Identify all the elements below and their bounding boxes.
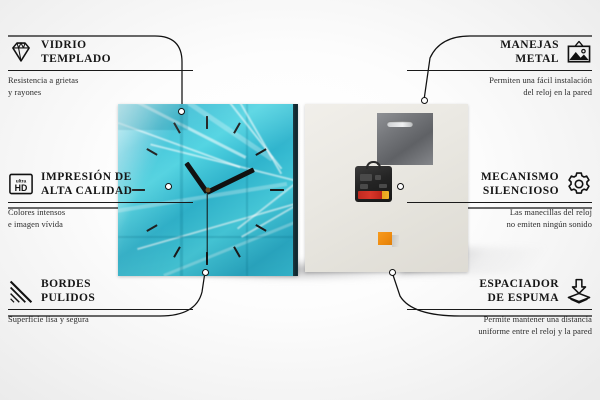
- feature-heading: Bordes Pulidos: [8, 277, 193, 305]
- feature-heading: Espaciador de Espuma: [407, 277, 592, 305]
- feature-divider: [407, 202, 592, 203]
- feature-impresion-alta-calidad: ultra HD Impresión de Alta Calidad Color…: [8, 170, 193, 230]
- feature-mecanismo-silencioso: Mecanismo Silencioso Las manecillas del …: [407, 170, 592, 230]
- feature-espaciador-de-espuma: Espaciador de Espuma Permite mantener un…: [407, 277, 592, 337]
- callout-dot-bordes[interactable]: [202, 269, 209, 276]
- feature-subtitle: Superficie lisa y segura: [8, 314, 193, 325]
- feature-title: Impresión de Alta Calidad: [41, 170, 132, 198]
- picture-frame-icon: [566, 39, 592, 65]
- feature-title: Vidrio Templado: [41, 38, 111, 66]
- hanger-slot: [387, 121, 413, 127]
- feature-vidrio-templado: Vidrio Templado Resistencia a grietas y …: [8, 38, 193, 98]
- callout-dot-vidrio-templado[interactable]: [178, 108, 185, 115]
- feature-subtitle: Las manecillas del reloj no emiten ningú…: [407, 207, 592, 230]
- clock-side-edge: [293, 104, 298, 276]
- battery-compartment: [358, 191, 389, 199]
- feature-divider: [407, 309, 592, 310]
- feature-heading: ultra HD Impresión de Alta Calidad: [8, 170, 193, 198]
- callout-dot-mecanismo[interactable]: [397, 183, 404, 190]
- foam-spacer: [378, 232, 392, 245]
- feature-divider: [8, 309, 193, 310]
- feature-subtitle: Colores intensos e imagen vívida: [8, 207, 193, 230]
- feature-divider: [407, 70, 592, 71]
- ultra-hd-icon: ultra HD: [8, 171, 34, 197]
- feature-title: Bordes Pulidos: [41, 277, 95, 305]
- foam-spacer-icon: [566, 278, 592, 304]
- metal-hanger: [377, 113, 433, 165]
- feature-manejas-metal: Manejas Metal Permiten una fácil instala…: [407, 38, 592, 98]
- gear-icon: [566, 171, 592, 197]
- feature-heading: Mecanismo Silencioso: [407, 170, 592, 198]
- callout-dot-manejas[interactable]: [421, 97, 428, 104]
- feature-divider: [8, 70, 193, 71]
- svg-text:HD: HD: [15, 183, 28, 193]
- feature-title: Mecanismo Silencioso: [481, 170, 559, 198]
- feature-divider: [8, 202, 193, 203]
- polished-edge-icon: [8, 278, 34, 304]
- feature-heading: Manejas Metal: [407, 38, 592, 66]
- feature-title: Manejas Metal: [500, 38, 559, 66]
- feature-subtitle: Permite mantener una distancia uniforme …: [407, 314, 592, 337]
- mechanism-hook: [366, 161, 381, 169]
- foam-spacer-shadow: [392, 235, 399, 247]
- feature-subtitle: Resistencia a grietas y rayones: [8, 75, 193, 98]
- clock-center-hub: [206, 188, 211, 193]
- feature-bordes-pulidos: Bordes Pulidos Superficie lisa y segura: [8, 277, 193, 326]
- diamond-icon: [8, 39, 34, 65]
- feature-title: Espaciador de Espuma: [479, 277, 559, 305]
- callout-dot-espaciador[interactable]: [389, 269, 396, 276]
- infographic-canvas: Vidrio Templado Resistencia a grietas y …: [0, 0, 600, 400]
- quartz-mechanism: [355, 166, 392, 202]
- feature-subtitle: Permiten una fácil instalación del reloj…: [407, 75, 592, 98]
- feature-heading: Vidrio Templado: [8, 38, 193, 66]
